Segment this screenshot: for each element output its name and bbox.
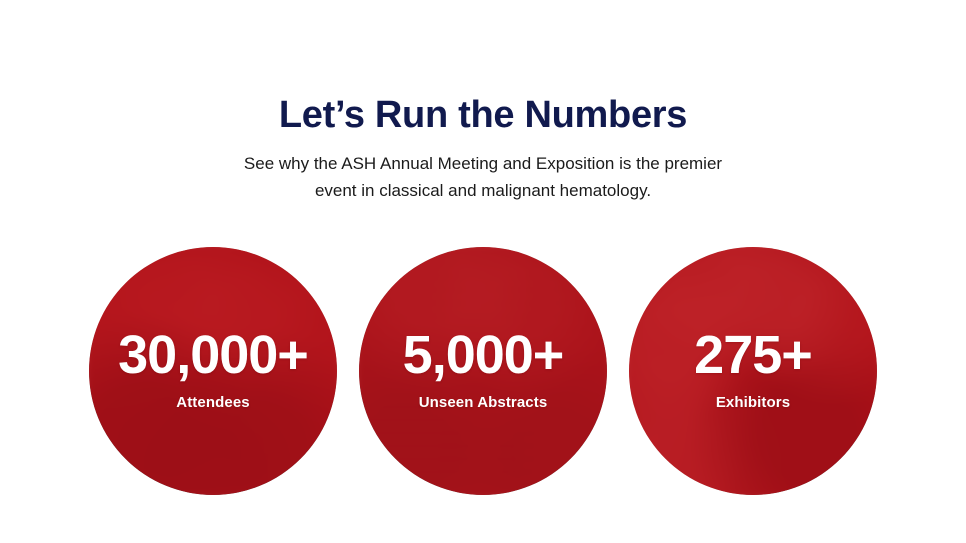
stat-label-unseen-abstracts: Unseen Abstracts	[359, 393, 607, 412]
page-title: Let’s Run the Numbers	[0, 92, 966, 138]
stats-section: Let’s Run the Numbers See why the ASH An…	[0, 0, 966, 543]
stat-number-unseen-abstracts: 5,000+	[359, 326, 607, 384]
stat-number-attendees: 30,000+	[89, 326, 337, 384]
stat-label-attendees: Attendees	[89, 393, 337, 412]
stat-number-exhibitors: 275+	[629, 326, 877, 384]
stat-circle-exhibitors: 275+ Exhibitors	[629, 247, 877, 495]
stat-circle-unseen-abstracts: 5,000+ Unseen Abstracts	[359, 247, 607, 495]
stat-content: 30,000+ Attendees	[89, 326, 337, 416]
subtitle-line-1: See why the ASH Annual Meeting and Expos…	[0, 150, 966, 177]
stat-label-exhibitors: Exhibitors	[629, 393, 877, 412]
section-subtitle: See why the ASH Annual Meeting and Expos…	[0, 150, 966, 204]
stats-row: 30,000+ Attendees 5,000+ Unseen Abstract…	[0, 247, 966, 495]
stat-circle-attendees: 30,000+ Attendees	[89, 247, 337, 495]
stat-content: 275+ Exhibitors	[629, 326, 877, 416]
subtitle-line-2: event in classical and malignant hematol…	[0, 177, 966, 204]
stat-content: 5,000+ Unseen Abstracts	[359, 326, 607, 416]
